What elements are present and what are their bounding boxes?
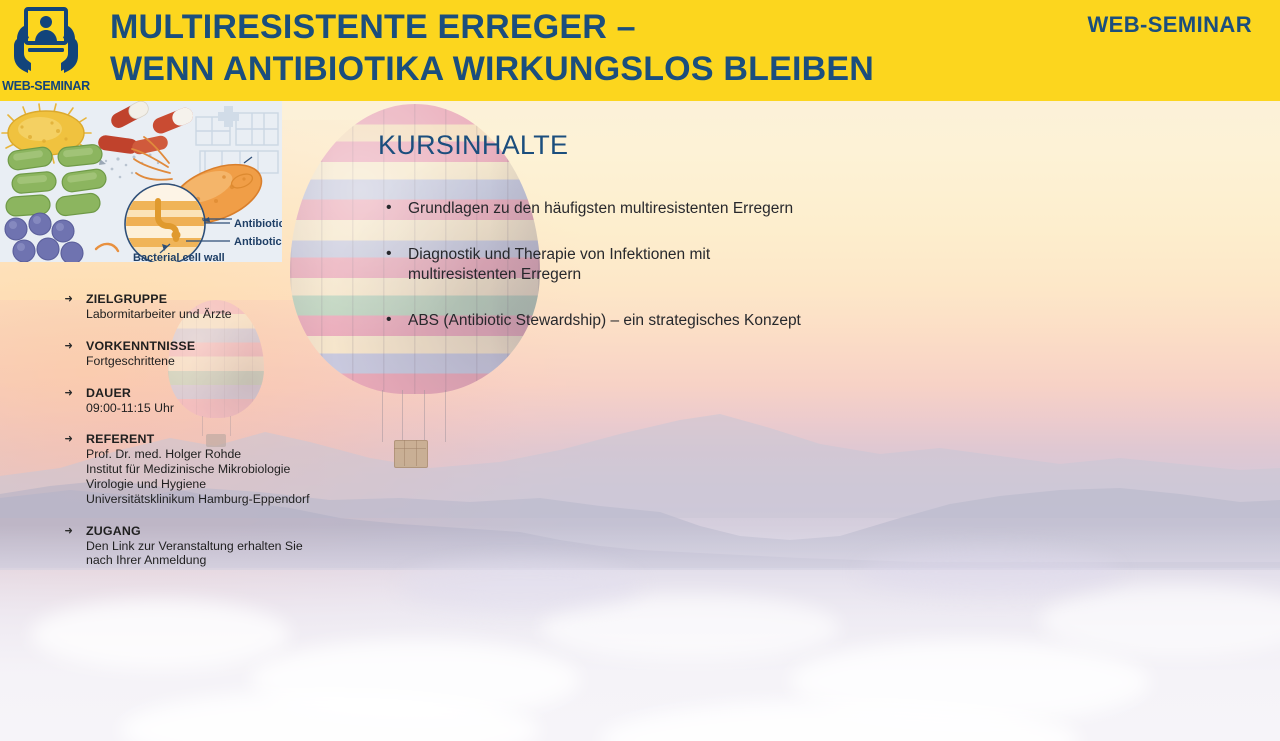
detail-item-referent: REFERENT Prof. Dr. med. Holger Rohde Ins…	[64, 432, 394, 506]
detail-label: ZIELGRUPPE	[86, 292, 394, 307]
detail-item-zugang: ZUGANG Den Link zur Veranstaltung erhalt…	[64, 524, 394, 569]
kursinhalte-section: KURSINHALTE Grundlagen zu den häufigsten…	[378, 130, 918, 357]
kursinhalte-heading: KURSINHALTE	[378, 130, 918, 161]
logo: WEB-SEMINAR	[0, 0, 92, 101]
svg-text:Antibiotic: Antibiotic	[234, 218, 282, 230]
web-seminar-hands-screen-icon	[6, 4, 86, 78]
header-bar: WEB-SEMINAR MULTIRESISTENTE ERREGER – WE…	[0, 0, 1280, 101]
header-tag: WEB-SEMINAR	[1087, 12, 1252, 38]
cloud-puff	[400, 560, 640, 612]
detail-body: Den Link zur Veranstaltung erhalten Sie …	[86, 539, 394, 569]
detail-label: ZUGANG	[86, 524, 394, 539]
detail-body: Fortgeschrittene	[86, 354, 394, 369]
cloud-puff	[860, 548, 1120, 596]
list-item: ABS (Antibiotic Stewardship) – ein strat…	[378, 311, 918, 331]
detail-body: 09:00-11:15 Uhr	[86, 401, 394, 416]
svg-text:Bacterial cell wall: Bacterial cell wall	[133, 252, 225, 262]
svg-text:Antibotic: Antibotic	[234, 236, 282, 248]
list-item: Diagnostik und Therapie von Infektionen …	[378, 245, 918, 285]
detail-label: VORKENNTNISSE	[86, 339, 394, 354]
list-item: Grundlagen zu den häufigsten multiresist…	[378, 199, 918, 219]
detail-body: Labormitarbeiter und Ärzte	[86, 307, 394, 322]
bacteria-antibiotics-illustration: Antibiotic Antibotic Bacterial cell wall	[0, 101, 282, 262]
detail-body: Prof. Dr. med. Holger Rohde Institut für…	[86, 447, 394, 506]
course-details-list: ZIELGRUPPE Labormitarbeiter und Ärzte VO…	[64, 292, 394, 585]
kursinhalte-list: Grundlagen zu den häufigsten multiresist…	[378, 199, 918, 331]
detail-label: DAUER	[86, 386, 394, 401]
slide: WEB-SEMINAR MULTIRESISTENTE ERREGER – WE…	[0, 0, 1280, 741]
detail-item-zielgruppe: ZIELGRUPPE Labormitarbeiter und Ärzte	[64, 292, 394, 322]
detail-label: REFERENT	[86, 432, 394, 447]
detail-item-vorkenntnisse: VORKENNTNISSE Fortgeschrittene	[64, 339, 394, 369]
detail-item-dauer: DAUER 09:00-11:15 Uhr	[64, 386, 394, 416]
page-title: MULTIRESISTENTE ERREGER – WENN ANTIBIOTI…	[110, 6, 1010, 90]
logo-wordmark: WEB-SEMINAR	[2, 79, 90, 93]
cloud-puff	[30, 600, 290, 670]
